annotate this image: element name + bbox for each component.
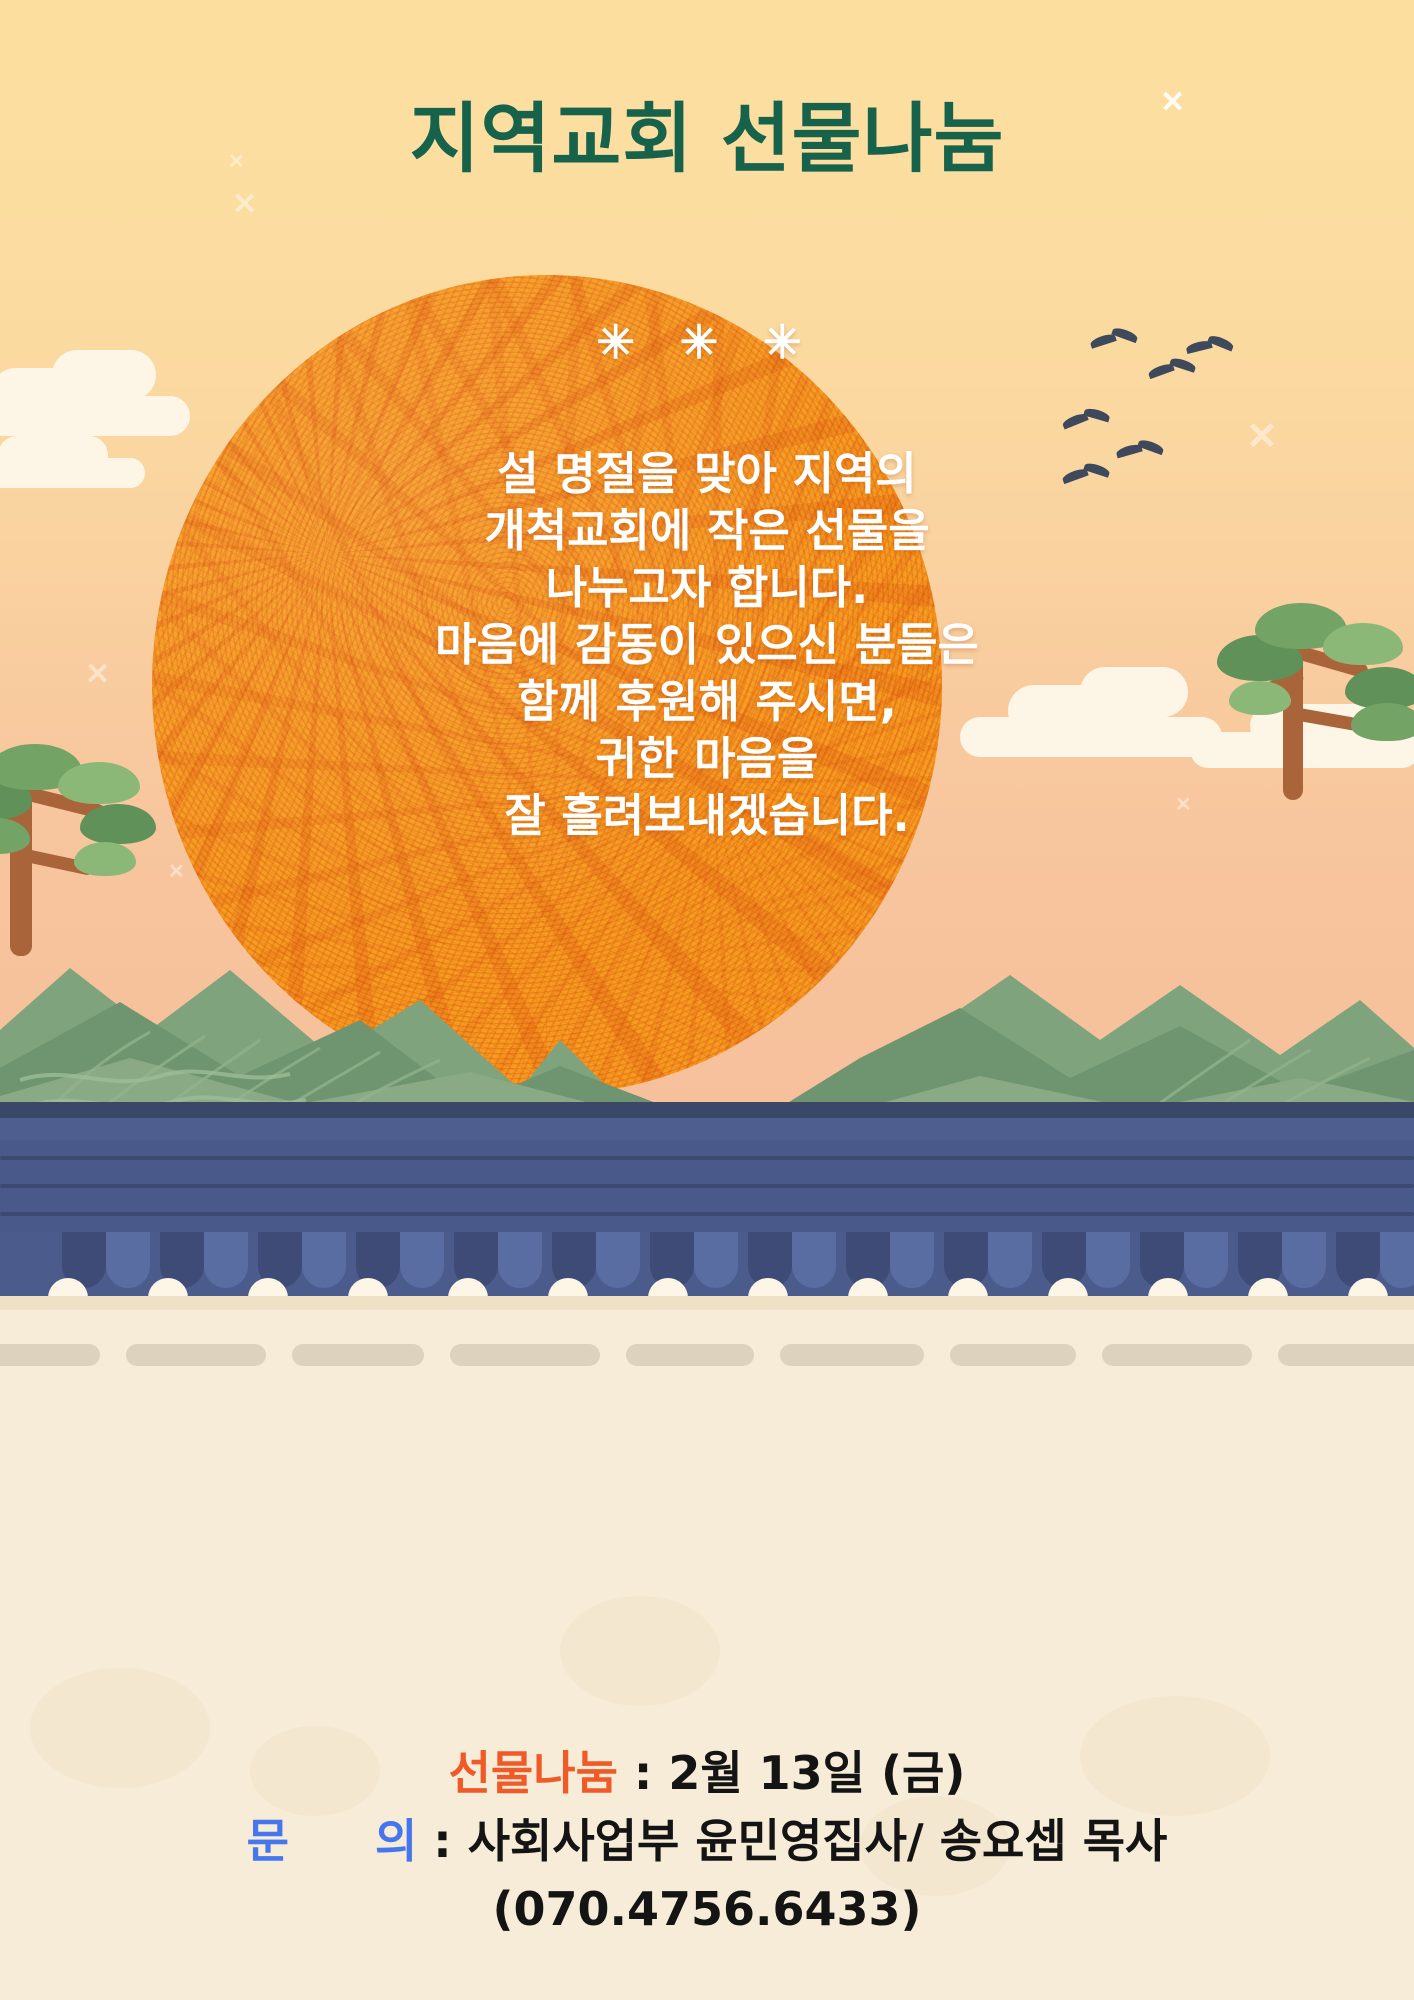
body-line: 마음에 감동이 있으신 분들은 [0,616,1414,673]
sparkle-icon: ✕ [232,190,257,220]
contact-label-a: 문 [247,1814,289,1868]
footer-info: 선물나눔 : 2월 13일 (금) 문의 : 사회사업부 윤민영집사/ 송요셉 … [0,1742,1414,1940]
body-line: 함께 후원해 주시면, [0,673,1414,730]
body-line: 설 명절을 맞아 지역의 [0,445,1414,502]
gift-date-line: 선물나눔 : 2월 13일 (금) [0,1742,1414,1804]
gift-label: 선물나눔 [449,1746,618,1800]
page-title: 지역교회 선물나눔 [0,96,1414,182]
korean-roof-wall [0,1102,1414,1302]
phone-line: (070.4756.6433) [0,1878,1414,1940]
body-line: 잘 흘려보내겠습니다. [0,787,1414,844]
mountain-svg [0,880,1414,1120]
gift-date-value: : 2월 13일 (금) [618,1746,965,1800]
ground-edge [0,1296,1414,1310]
decorative-stars: ✳ ✳ ✳ [0,315,1414,369]
poster-root: ✕ ✕ ✕ ✕ ✕ ✕ ✕ ✕ [0,0,1414,2000]
contact-line: 문의 : 사회사업부 윤민영집사/ 송요셉 목사 [0,1804,1414,1878]
mountain-range [0,880,1414,1120]
body-line: 개척교회에 작은 선물을 [0,502,1414,559]
body-message: 설 명절을 맞아 지역의 개척교회에 작은 선물을 나누고자 합니다. 마음에 … [0,445,1414,844]
roof-body [0,1140,1414,1232]
body-line: 귀한 마음을 [0,730,1414,787]
contact-label-b: 의 [375,1814,417,1868]
roof-ridge [0,1102,1414,1118]
body-line: 나누고자 합니다. [0,559,1414,616]
contact-value: : 사회사업부 윤민영집사/ 송요셉 목사 [417,1814,1167,1868]
roof-band [0,1118,1414,1140]
